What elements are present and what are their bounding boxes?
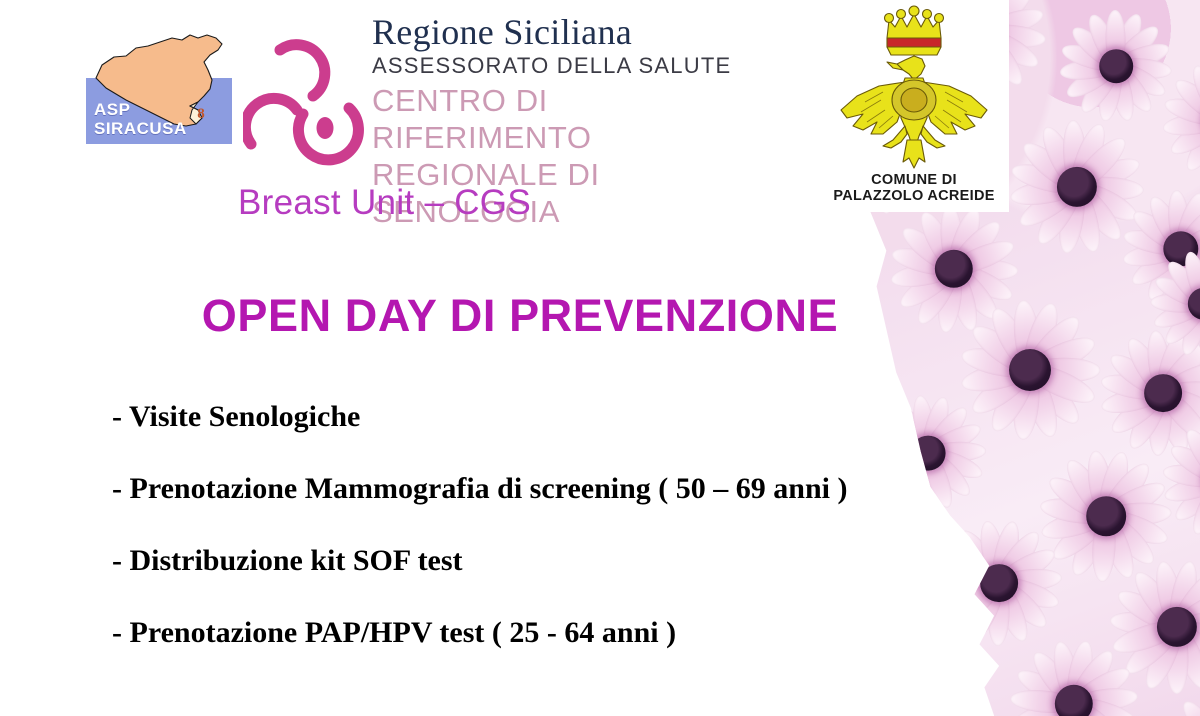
crest-line1: COMUNE DI — [819, 172, 1009, 188]
daisy-flower-icon — [1060, 10, 1172, 122]
asp-siracusa-logo: 8 ASP SIRACUSA — [86, 26, 232, 144]
eagle-crest-icon — [819, 0, 1009, 172]
asp-logo-line1: ASP — [94, 100, 187, 119]
daisy-flower-icon — [1162, 60, 1200, 180]
daisy-flower-icon — [1162, 420, 1200, 540]
header-line-assessorato: ASSESSORATO DELLA SALUTE — [372, 53, 742, 79]
comune-palazzolo-acreide-crest: COMUNE DI PALAZZOLO ACREIDE — [819, 0, 1009, 212]
list-item: - Distribuzione kit SOF test — [112, 544, 942, 578]
list-item: - Visite Senologiche — [112, 400, 942, 434]
daisy-flower-icon — [1162, 690, 1200, 716]
daisy-flower-icon — [890, 690, 1010, 716]
crest-caption: COMUNE DI PALAZZOLO ACREIDE — [819, 172, 1009, 204]
daisy-flower-icon — [1150, 250, 1200, 358]
daisy-flower-icon — [936, 520, 1062, 646]
page-title: OPEN DAY DI PREVENZIONE — [0, 290, 1040, 342]
asp-logo-text: ASP SIRACUSA — [94, 100, 187, 138]
breast-unit-label: Breast Unit – CGS — [238, 183, 531, 223]
asp-logo-line2: SIRACUSA — [94, 119, 187, 138]
header-line-regione: Regione Siciliana — [372, 12, 742, 52]
crest-line2: PALAZZOLO ACREIDE — [819, 188, 1009, 204]
daisy-flower-icon — [1010, 640, 1138, 716]
breast-unit-symbol — [243, 22, 367, 174]
list-item: - Prenotazione PAP/HPV test ( 25 - 64 an… — [112, 616, 942, 650]
svg-text:8: 8 — [197, 106, 205, 122]
header-line-centro: CENTRO DI RIFERIMENTO — [372, 82, 742, 156]
list-item: - Prenotazione Mammografia di screening … — [112, 472, 942, 506]
poster-slide: 8 ASP SIRACUSA Regione Siciliana ASSESSO… — [0, 0, 1200, 716]
services-list: - Visite Senologiche - Prenotazione Mamm… — [112, 400, 942, 650]
